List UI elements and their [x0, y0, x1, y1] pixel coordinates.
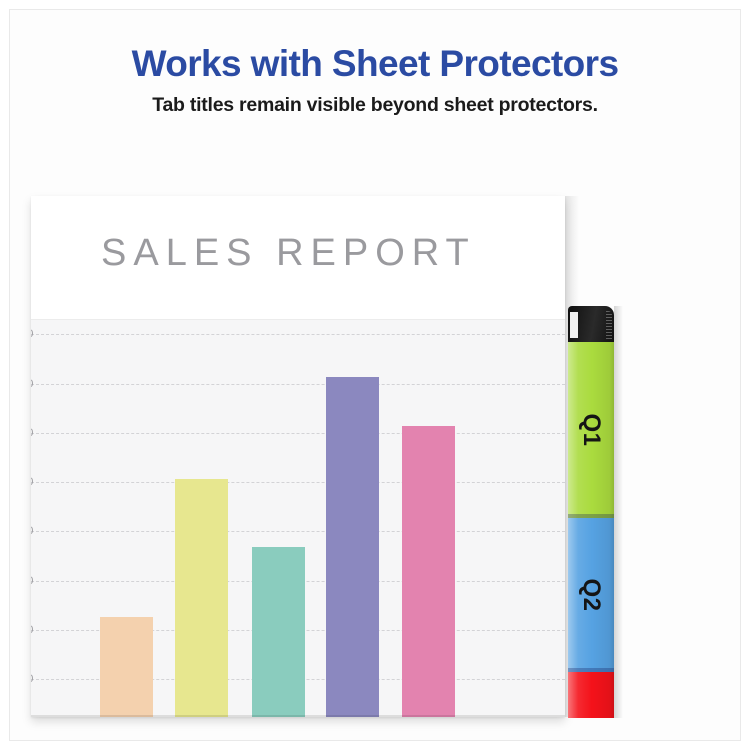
report-title: SALES REPORT: [101, 232, 476, 275]
y-axis-tick-label: 0,000: [31, 328, 34, 340]
gridline: [31, 384, 565, 385]
binder-ridge-texture: [606, 311, 612, 339]
screenshot-root: Works with Sheet Protectors Tab titles r…: [0, 0, 750, 750]
binder-slot: [570, 312, 578, 338]
tab-strip-shadow: [614, 306, 623, 718]
y-axis-tick-label: 0,000: [31, 575, 34, 587]
sales-report-card: SALES REPORT 0,0000,0000,0000,0000,0000,…: [31, 196, 565, 717]
report-card-header: SALES REPORT: [31, 196, 565, 319]
divider-tab-q1-label: Q1: [577, 413, 605, 446]
y-axis-tick-label: 0,000: [31, 624, 34, 636]
divider-tab-q2[interactable]: Q2: [568, 518, 614, 672]
y-axis-tick-label: 0,000: [31, 476, 34, 488]
divider-tab-q3[interactable]: [568, 672, 614, 718]
page-title: Works with Sheet Protectors: [10, 44, 740, 85]
bar-3: [252, 547, 305, 717]
gridline: [31, 531, 565, 532]
gridline: [31, 334, 565, 335]
tab-gloss-overlay: [568, 672, 614, 718]
y-axis-tick-label: 0,000: [31, 378, 34, 390]
gridline: [31, 482, 565, 483]
bar-1: [100, 617, 153, 717]
divider-tab-q1[interactable]: Q1: [568, 342, 614, 518]
page-subtitle: Tab titles remain visible beyond sheet p…: [10, 94, 740, 117]
binder-cap: [568, 306, 614, 342]
y-axis-tick-label: 0,000: [31, 427, 34, 439]
gridline: [31, 433, 565, 434]
bar-2: [175, 479, 228, 717]
divider-tab-strip: Q1 Q2: [565, 306, 620, 718]
bar-chart-plot-area: 0,0000,0000,0000,0000,0000,0000,0000,000: [31, 319, 565, 717]
x-axis-baseline: [31, 715, 565, 717]
divider-tab-q2-label: Q2: [577, 578, 605, 611]
y-axis-tick-label: 0,000: [31, 525, 34, 537]
headline-block: Works with Sheet Protectors Tab titles r…: [10, 44, 740, 117]
y-axis-tick-label: 0,000: [31, 673, 34, 685]
bar-5: [402, 426, 455, 717]
bar-4: [326, 377, 379, 717]
